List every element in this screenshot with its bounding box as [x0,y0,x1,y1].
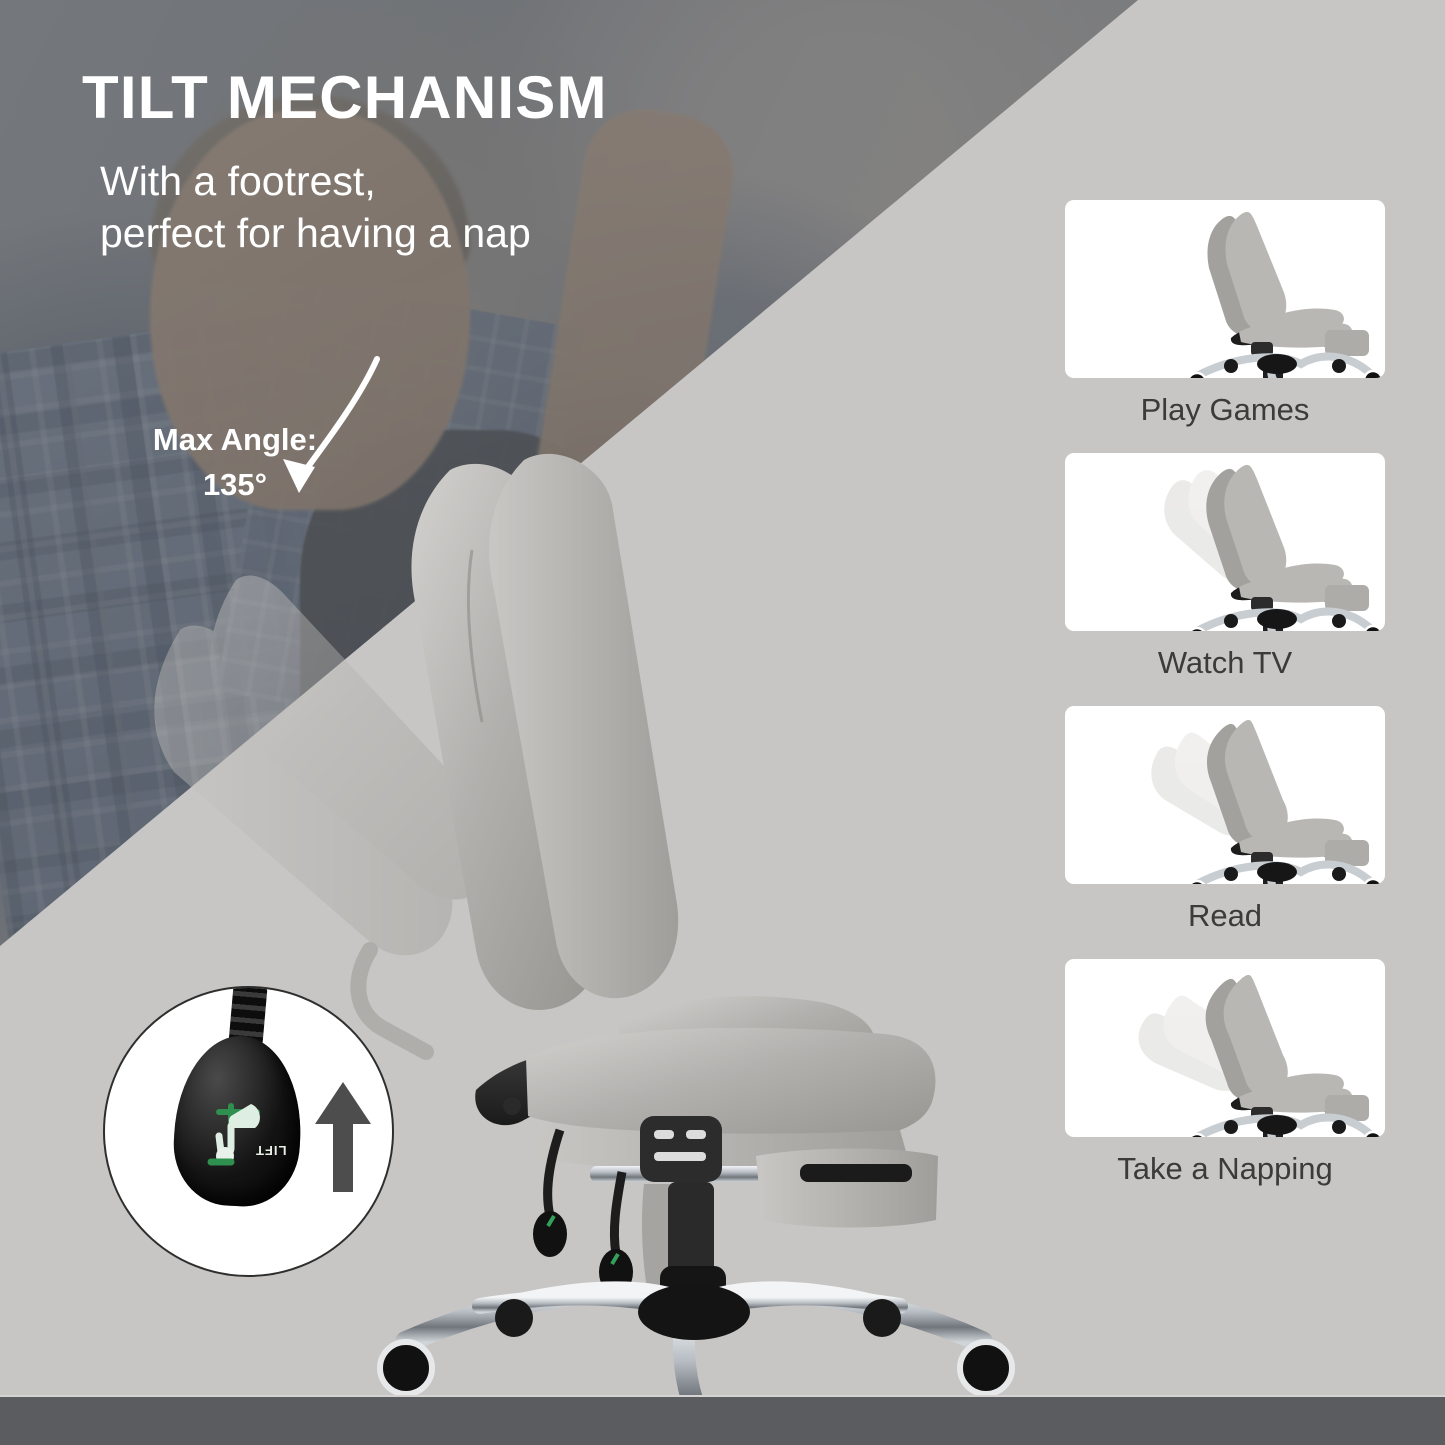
main-chair-illustration [120,430,1020,1430]
office-chair-reclined-icon [1065,453,1385,631]
scenario-card-list: Play Games [1065,200,1385,1212]
scenario-thumbnail[interactable] [1065,453,1385,631]
chair-backrest [411,454,678,1010]
scenario-card[interactable]: Watch TV [1065,453,1385,696]
scenario-card[interactable]: Play Games [1065,200,1385,443]
scenario-label: Watch TV [1065,631,1385,696]
page-title: TILT MECHANISM [82,66,982,129]
scenario-thumbnail[interactable] [1065,200,1385,378]
bottom-frame-band [0,1397,1445,1445]
product-feature-poster: TILT MECHANISM With a footrest, perfect … [0,0,1445,1445]
scenario-thumbnail[interactable] [1065,959,1385,1137]
scenario-thumbnail[interactable] [1065,706,1385,884]
scenario-label: Play Games [1065,378,1385,443]
scenario-label: Read [1065,884,1385,949]
lift-label: LIFT [255,1143,286,1158]
scenario-card[interactable]: Read [1065,706,1385,949]
office-chair-upright-icon [1065,200,1385,378]
lift-lever-inset: LIFT [103,986,394,1277]
office-chair-reclined-icon [1065,959,1385,1137]
office-chair-reclined-icon [1065,706,1385,884]
up-arrow-icon [311,1080,375,1196]
scenario-card[interactable]: Take a Napping [1065,959,1385,1202]
scenario-label: Take a Napping [1065,1137,1385,1202]
page-subtitle: With a footrest, perfect for having a na… [100,155,982,260]
headline-block: TILT MECHANISM With a footrest, perfect … [82,66,982,260]
